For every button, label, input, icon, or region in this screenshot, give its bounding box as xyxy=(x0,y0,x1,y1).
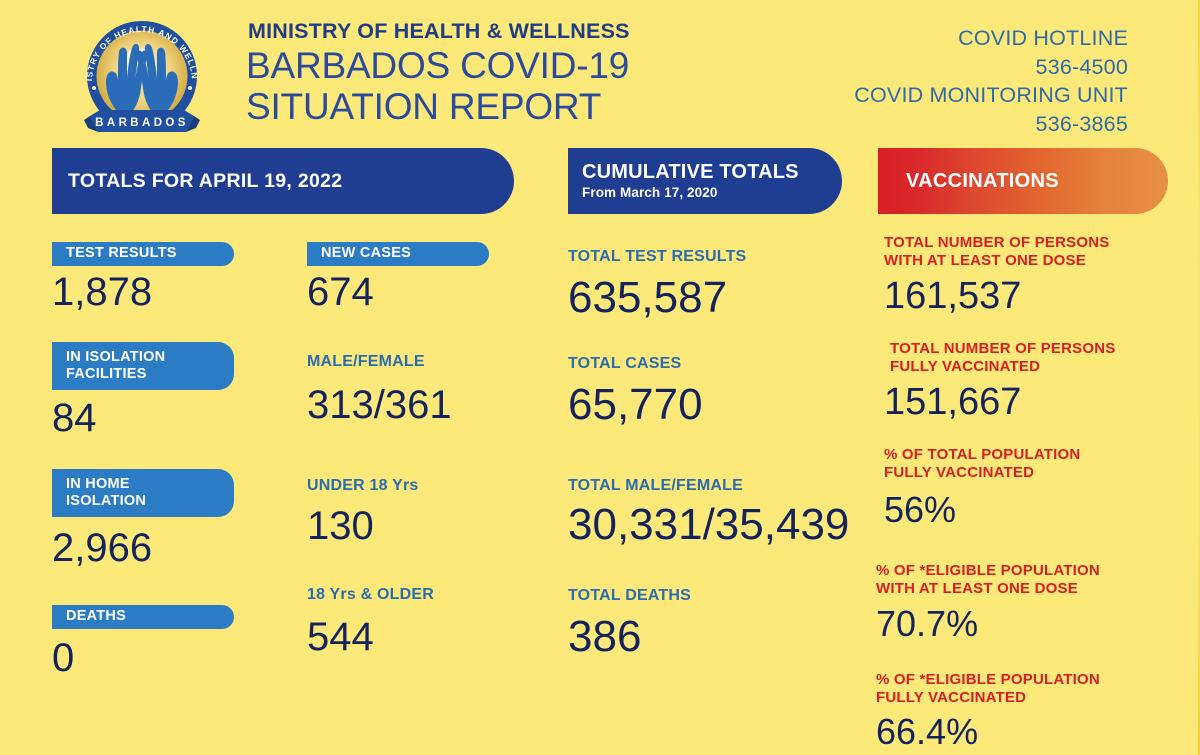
stat-value-new-cases: 674 xyxy=(307,272,374,312)
stat-label-male-female: MALE/FEMALE xyxy=(307,353,425,371)
page-title-line1: BARBADOS COVID-19 xyxy=(246,45,630,86)
page-title-line2: SITUATION REPORT xyxy=(246,86,630,127)
stat-label-test-results: TEST RESULTS xyxy=(52,242,234,266)
covid-hotline-block: COVID HOTLINE 536-4500 COVID MONITORING … xyxy=(854,24,1128,138)
vacc-label-pct-eligible-one-dose: % OF *ELIGIBLE POPULATION WITH AT LEAST … xyxy=(876,562,1100,598)
situation-report-page: MINISTRY OF HEALTH AND WELLNESS BARBADOS xyxy=(0,0,1200,755)
report-header: MINISTRY OF HEALTH AND WELLNESS BARBADOS xyxy=(0,0,1200,145)
stat-value-18-and-older: 544 xyxy=(307,617,374,657)
stat-label-new-cases: NEW CASES xyxy=(307,242,489,266)
stat-label-total-cases: TOTAL CASES xyxy=(568,355,681,373)
ministry-of-health-logo: MINISTRY OF HEALTH AND WELLNESS BARBADOS xyxy=(74,16,210,140)
hotline-label: COVID HOTLINE xyxy=(854,24,1128,53)
vacc-value-fully-vaccinated: 151,667 xyxy=(884,383,1021,421)
stat-value-under-18: 130 xyxy=(307,506,374,546)
stat-value-in-isolation-facilities: 84 xyxy=(52,398,97,438)
cumulative-banner-title: CUMULATIVE TOTALS xyxy=(582,162,799,184)
stat-value-deaths: 0 xyxy=(52,638,74,678)
stat-label-18-and-older: 18 Yrs & OLDER xyxy=(307,586,434,604)
vacc-label-at-least-one-dose: TOTAL NUMBER OF PERSONS WITH AT LEAST ON… xyxy=(884,234,1109,270)
vacc-value-pct-total-population: 56% xyxy=(884,492,956,528)
vacc-value-at-least-one-dose: 161,537 xyxy=(884,277,1021,315)
stat-value-total-test-results: 635,587 xyxy=(568,276,727,320)
stat-label-under-18: UNDER 18 Yrs xyxy=(307,477,419,495)
stat-value-total-deaths: 386 xyxy=(568,615,641,659)
ministry-name: MINISTRY OF HEALTH & WELLNESS xyxy=(248,20,630,43)
report-title-block: MINISTRY OF HEALTH & WELLNESS BARBADOS C… xyxy=(246,20,630,127)
cumulative-totals-banner: CUMULATIVE TOTALS From March 17, 2020 xyxy=(568,148,842,214)
vacc-label-pct-total-population: % OF TOTAL POPULATION FULLY VACCINATED xyxy=(884,446,1080,482)
daily-totals-banner-label: TOTALS FOR APRIL 19, 2022 xyxy=(68,170,342,193)
stat-label-total-deaths: TOTAL DEATHS xyxy=(568,587,691,605)
stat-label-deaths: DEATHS xyxy=(52,605,234,629)
monitoring-unit-label: COVID MONITORING UNIT xyxy=(854,81,1128,110)
cumulative-banner-subtitle: From March 17, 2020 xyxy=(582,185,717,200)
vacc-value-pct-eligible-one-dose: 70.7% xyxy=(876,606,978,642)
vaccinations-banner: VACCINATIONS xyxy=(878,148,1168,214)
vacc-value-pct-eligible-fully: 66.4% xyxy=(876,714,978,750)
stat-value-test-results: 1,878 xyxy=(52,272,152,312)
vaccinations-banner-label: VACCINATIONS xyxy=(906,170,1059,193)
daily-totals-banner: TOTALS FOR APRIL 19, 2022 xyxy=(52,148,514,214)
monitoring-unit-number[interactable]: 536-3865 xyxy=(854,110,1128,139)
stat-value-in-home-isolation: 2,966 xyxy=(52,528,152,568)
vacc-label-pct-eligible-fully: % OF *ELIGIBLE POPULATION FULLY VACCINAT… xyxy=(876,671,1100,707)
stat-label-in-isolation-facilities: IN ISOLATION FACILITIES xyxy=(52,342,234,390)
vacc-label-fully-vaccinated: TOTAL NUMBER OF PERSONS FULLY VACCINATED xyxy=(890,340,1115,376)
stat-value-male-female: 313/361 xyxy=(307,385,452,425)
stat-value-total-male-female: 30,331/35,439 xyxy=(568,503,849,547)
stat-label-total-test-results: TOTAL TEST RESULTS xyxy=(568,248,746,266)
stat-value-total-cases: 65,770 xyxy=(568,383,703,427)
hotline-number[interactable]: 536-4500 xyxy=(854,53,1128,82)
stat-label-in-home-isolation: IN HOME ISOLATION xyxy=(52,469,234,517)
logo-ribbon-text: BARBADOS xyxy=(95,117,189,129)
stat-label-total-male-female: TOTAL MALE/FEMALE xyxy=(568,477,743,495)
